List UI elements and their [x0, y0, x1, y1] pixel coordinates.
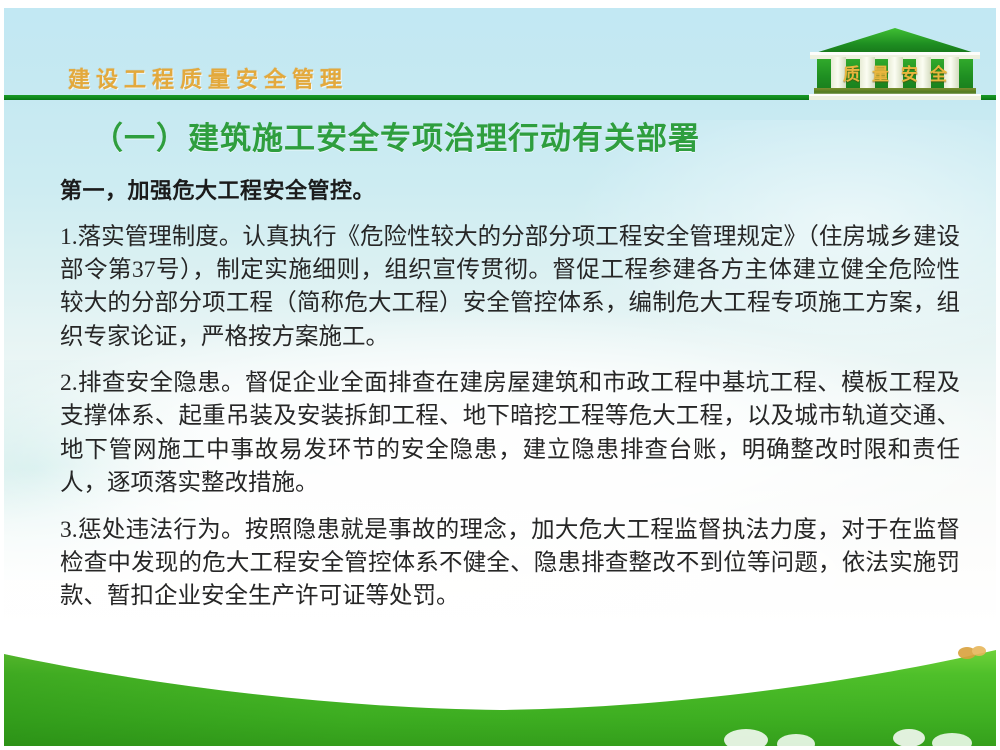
header-title: 建设工程质量安全管理: [68, 62, 348, 94]
grass-shading: [4, 650, 996, 746]
grass-field-decoration: [4, 636, 996, 746]
quality-safety-emblem: 质量安全: [806, 26, 984, 102]
body-paragraph-1: 1.落实管理制度。认真执行《危险性较大的分部分项工程安全管理规定》（住房城乡建设…: [60, 221, 960, 354]
body-paragraph-2: 2.排查安全隐患。督促企业全面排查在建房屋建筑和市政工程中基坑工程、模板工程及支…: [60, 367, 960, 500]
temple-emblem-icon: [806, 26, 984, 102]
slide-title: （一）建筑施工安全专项治理行动有关部署: [92, 118, 960, 160]
slide-content: （一）建筑施工安全专项治理行动有关部署 第一，加强危大工程安全管控。 1.落实管…: [60, 118, 960, 614]
presentation-slide: 建设工程质量安全管理: [0, 0, 1000, 750]
emblem-pediment: [812, 28, 978, 54]
slide-lead-statement: 第一，加强危大工程安全管控。: [60, 176, 960, 207]
grass-svg: [4, 636, 996, 746]
body-paragraph-3: 3.惩处违法行为。按照隐患就是事故的理念，加大危大工程监督执法力度，对于在监督检…: [60, 514, 960, 614]
